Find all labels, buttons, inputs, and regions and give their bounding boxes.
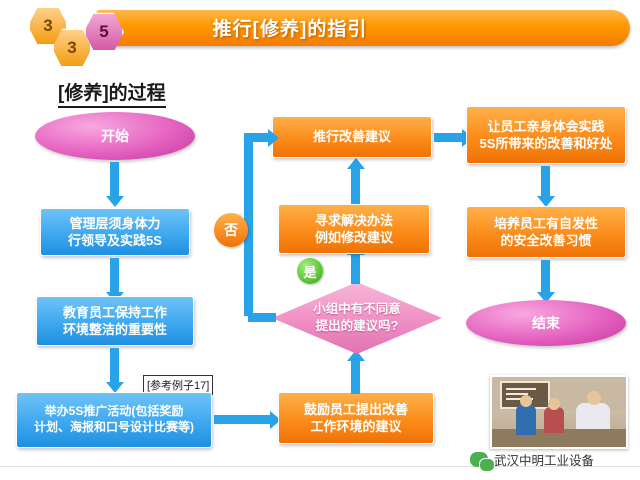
photo-person-left [516, 405, 536, 435]
arrow-decision-to-seek [351, 254, 360, 284]
node-implement: 推行改善建议 [272, 116, 432, 158]
arrow-mgmt-to-edu [110, 258, 119, 294]
label-no: 否 [214, 213, 248, 247]
node-education: 教育员工保持工作 环境整洁的重要性 [36, 296, 194, 346]
node-management: 管理层须身体力 行领导及实践5S [40, 208, 190, 256]
arrow-habit-to-end [541, 260, 550, 294]
photo-head-mid [548, 398, 560, 410]
node-end: 结束 [466, 300, 626, 346]
arrow-head-no-to-implement [268, 129, 279, 147]
arrow-start-to-mgmt [110, 162, 119, 198]
label-yes: 是 [297, 258, 323, 284]
photo-person-mid [544, 407, 564, 433]
node-experience: 让员工亲身体会实践 5S所带来的改善和好处 [466, 106, 626, 164]
photo-head-left [520, 395, 532, 407]
arrow-experience-to-habit [541, 166, 550, 198]
page-title: 推行[修养]的指引 [140, 14, 440, 41]
arrow-head-seek-to-implement [347, 158, 365, 169]
node-decision-label: 小组中有不同意 提出的建议吗? [313, 301, 401, 335]
arrow-encourage-to-decision [351, 360, 360, 394]
photo-head-right [587, 391, 601, 405]
wechat-icon [470, 452, 488, 467]
node-habit: 培养员工有自发性 的安全改善习惯 [466, 206, 626, 258]
flowchart-page: 推行[修养]的指引 3 5 3 [修养]的过程 开始 管理层须身体力 行领导及实… [0, 0, 640, 480]
node-decision: 小组中有不同意 提出的建议吗? [272, 282, 442, 354]
node-promotion: 举办5S推广活动(包括奖励 计划、海报和口号设计比赛等) [16, 392, 212, 448]
arrow-head-start-to-mgmt [106, 196, 124, 207]
footer-brand: 武汉中明工业设备 [470, 450, 594, 469]
node-seek-solution: 寻求解决办法 例如修改建议 [278, 204, 430, 254]
arrow-promo-to-encourage [214, 415, 272, 424]
node-encourage: 鼓励员工提出改善 工作环境的建议 [278, 392, 434, 444]
footer-brand-label: 武汉中明工业设备 [494, 450, 594, 469]
arrow-edu-to-promo [110, 348, 119, 384]
node-start: 开始 [35, 112, 195, 160]
arrow-seek-to-implement [351, 168, 360, 204]
office-photo [490, 375, 628, 449]
photo-person-right [576, 403, 610, 429]
section-heading: [修养]的过程 [58, 78, 166, 108]
